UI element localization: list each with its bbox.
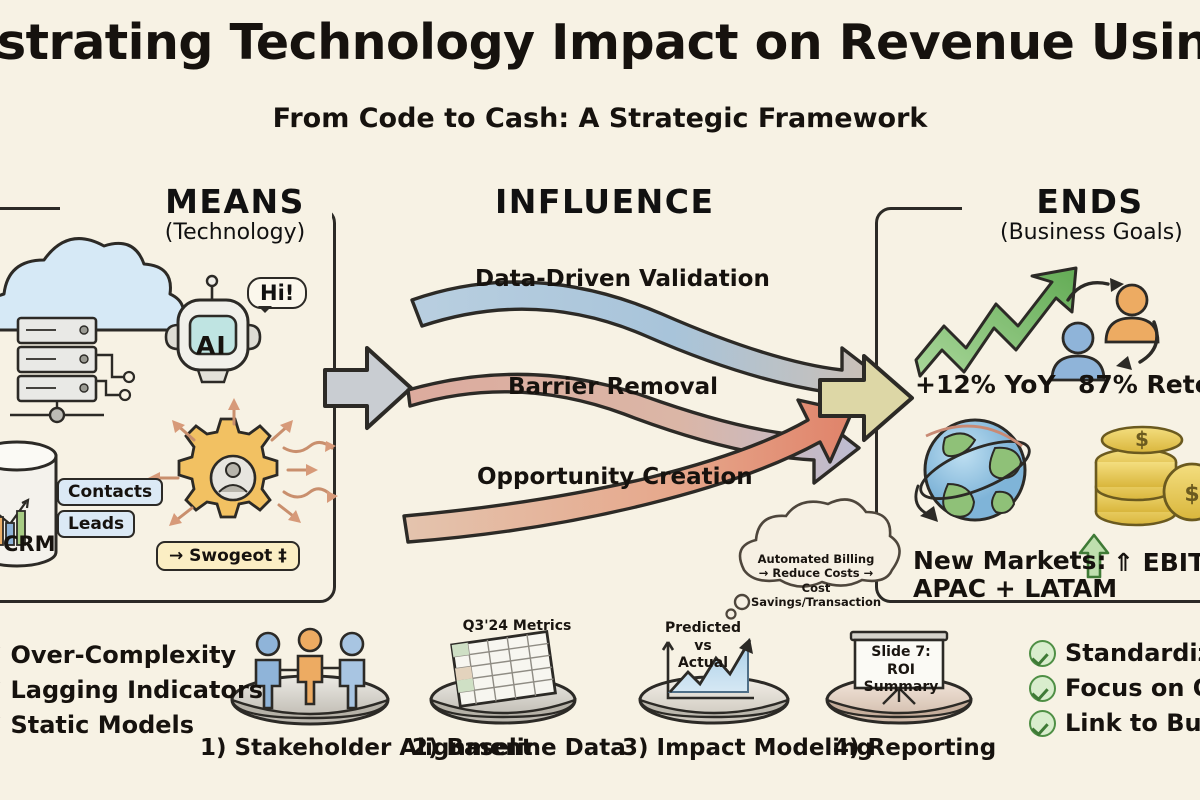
check-icon — [1029, 640, 1056, 667]
check-icon — [1029, 710, 1056, 737]
thought-cloud-text: Automated Billing → Reduce Costs → Cost … — [748, 552, 884, 610]
means-subheading: (Technology) — [145, 220, 325, 245]
check-icon — [1029, 675, 1056, 702]
chart-note: Predicted vs Actual — [660, 620, 746, 673]
step-2-label: 2) Baseline Data — [412, 735, 626, 761]
suggestion-chip[interactable]: → Swogeot ‡ — [156, 541, 300, 571]
robot-speech-bubble: Hi! — [247, 277, 307, 309]
step-3: 3) Impact Modeling — [622, 735, 807, 761]
pitfall-item-1: ✘ Lagging Indicators — [0, 676, 263, 704]
influence-flow-label-0: Data-Driven Validation — [475, 266, 770, 292]
crm-tag-contacts[interactable]: Contacts — [57, 478, 163, 506]
page-subtitle: From Code to Cash: A Strategic Framework — [273, 103, 928, 134]
crm-tag-leads[interactable]: Leads — [57, 510, 135, 538]
checklist-item-0[interactable]: Standardize Taxonomy — [1029, 639, 1200, 667]
metric-new-markets: New Markets: APAC + LATAM — [913, 547, 1117, 602]
spreadsheet-note: Q3'24 Metrics — [462, 618, 572, 636]
pitfall-item-2: ✘ Static Models — [0, 711, 194, 739]
ends-heading: ENDS — [1000, 185, 1180, 220]
checklist-label-1: Focus on Outcomes — [1065, 674, 1200, 702]
metric-growth: +12% YoY — [915, 371, 1056, 399]
spreadsheet-icon — [431, 632, 575, 723]
easel-note: Slide 7: ROI Summary — [855, 644, 947, 697]
pitfall-item-0: ✘ Over-Complexity — [0, 641, 236, 669]
metric-retention: 87% Retention — [1078, 371, 1200, 399]
checklist-item-1[interactable]: Focus on Outcomes — [1029, 674, 1200, 702]
checklist-item-2[interactable]: Link to Budget — [1029, 709, 1200, 737]
robot-ai-label: AI — [196, 331, 227, 360]
means-to-influence-arrow — [325, 348, 411, 428]
infographic-canvas: Demonstrating Technology Impact on Reven… — [0, 0, 1200, 800]
step-4-label: 4) Reporting — [833, 735, 996, 761]
checklist-label-0: Standardize Taxonomy — [1065, 639, 1200, 667]
step-4: 4) Reporting — [833, 735, 983, 761]
influence-flow-label-1: Barrier Removal — [508, 374, 718, 400]
step-1: 1) Stakeholder Alignment — [200, 735, 440, 761]
checklist-label-2: Link to Budget — [1065, 709, 1200, 737]
ends-panel-header: ENDS (Business Goals) — [1000, 185, 1180, 245]
influence-panel-header: INFLUENCE — [495, 185, 705, 220]
means-panel-header: MEANS (Technology) — [145, 185, 325, 245]
influence-heading: INFLUENCE — [495, 185, 705, 220]
ends-panel-frame — [875, 207, 1200, 603]
step-2: 2) Baseline Data — [412, 735, 592, 761]
page-title: Demonstrating Technology Impact on Reven… — [0, 14, 1200, 71]
crm-label: CRM — [3, 532, 55, 556]
means-heading: MEANS — [145, 185, 325, 220]
metric-ebitda: ⇑ EBITDA — [1113, 549, 1200, 577]
ends-subheading: (Business Goals) — [1000, 220, 1180, 245]
influence-flow-label-2: Opportunity Creation — [477, 464, 753, 490]
